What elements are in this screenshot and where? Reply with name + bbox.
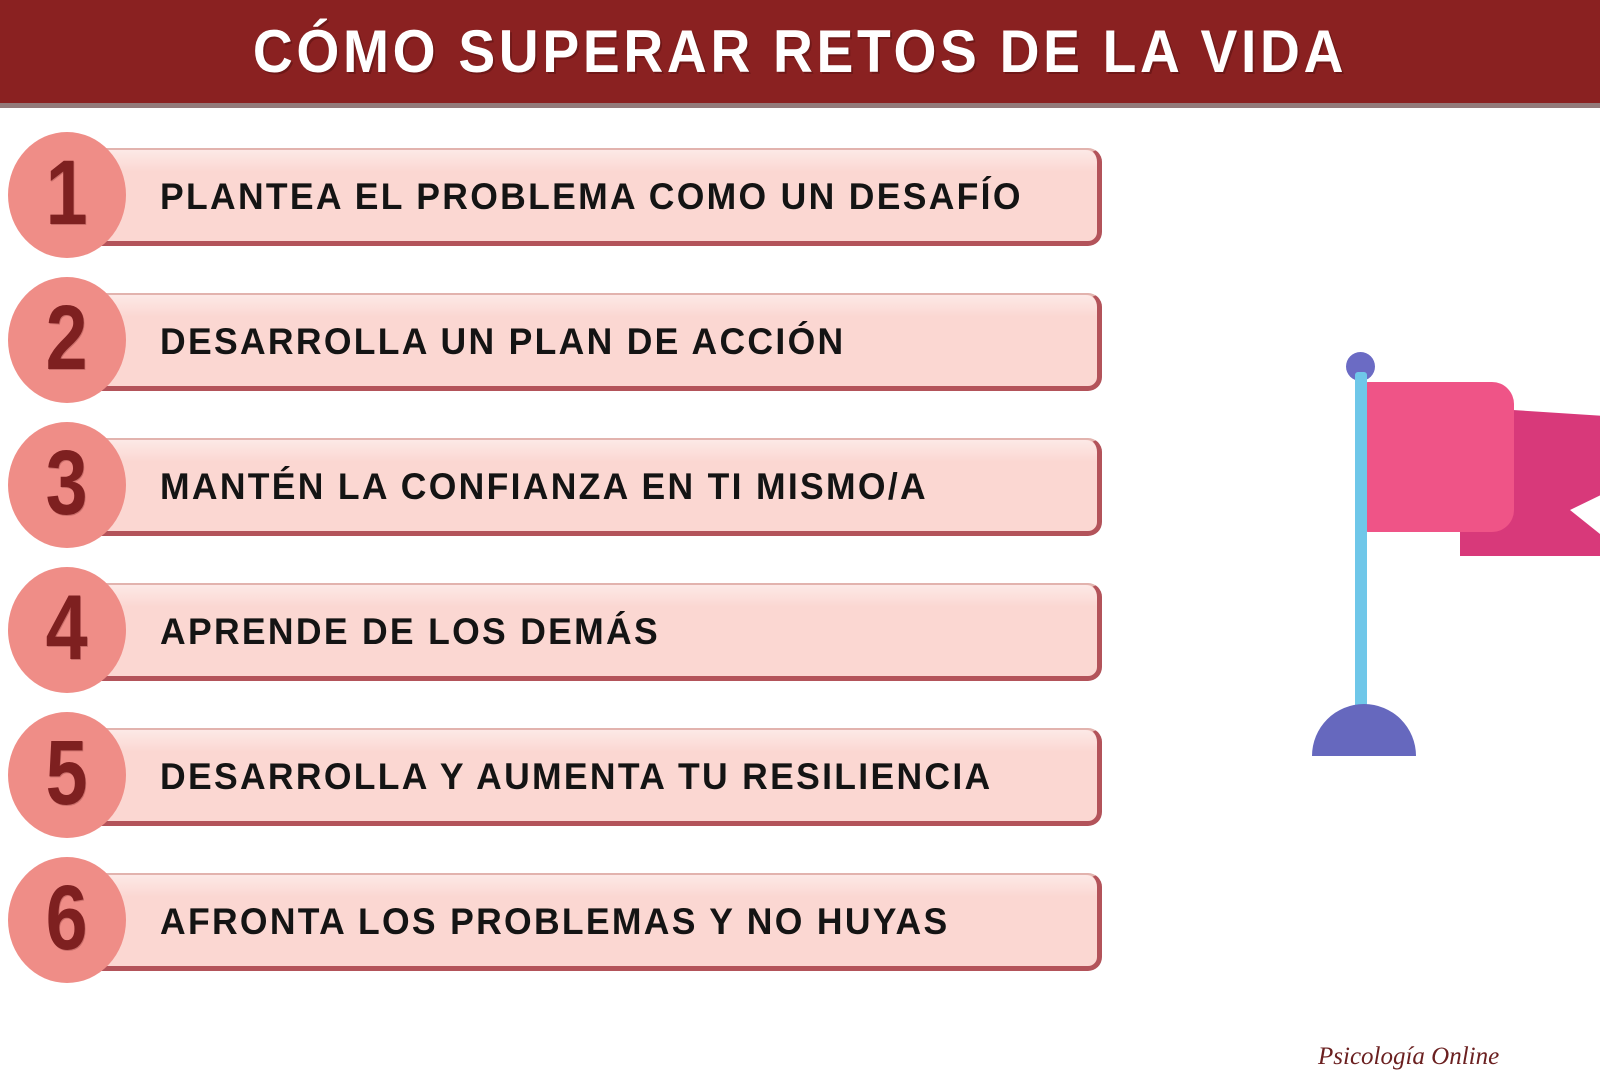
- list-item[interactable]: 3 MANTÉN LA CONFIANZA EN TI MISMO/A: [0, 408, 1130, 553]
- step-text: DESARROLLA Y AUMENTA TU RESILIENCIA: [160, 728, 993, 826]
- list-item[interactable]: 6 AFRONTA LOS PROBLEMAS Y NO HUYAS: [0, 843, 1130, 988]
- list-item[interactable]: 1 PLANTEA EL PROBLEMA COMO UN DESAFÍO: [0, 118, 1130, 263]
- step-text: PLANTEA EL PROBLEMA COMO UN DESAFÍO: [160, 148, 1023, 246]
- flag-pole-icon: [1355, 372, 1367, 724]
- list-item[interactable]: 2 DESARROLLA UN PLAN DE ACCIÓN: [0, 263, 1130, 408]
- step-number-label: 6: [46, 872, 88, 964]
- step-number-badge: 5: [8, 712, 126, 838]
- step-number-label: 5: [46, 727, 88, 819]
- flag-icon: [1302, 352, 1600, 764]
- step-number-badge: 4: [8, 567, 126, 693]
- step-number-label: 1: [46, 147, 88, 239]
- list-item[interactable]: 5 DESARROLLA Y AUMENTA TU RESILIENCIA: [0, 698, 1130, 843]
- flag-cloth-front-icon: [1364, 382, 1514, 532]
- header-banner: CÓMO SUPERAR RETOS DE LA VIDA: [0, 0, 1600, 103]
- step-text: APRENDE DE LOS DEMÁS: [160, 583, 660, 681]
- flag-base-icon: [1312, 704, 1416, 756]
- page-title: CÓMO SUPERAR RETOS DE LA VIDA: [64, 0, 1536, 103]
- step-number-label: 3: [46, 437, 88, 529]
- step-number-badge: 3: [8, 422, 126, 548]
- step-number-badge: 6: [8, 857, 126, 983]
- step-text: AFRONTA LOS PROBLEMAS Y NO HUYAS: [160, 873, 949, 971]
- header-banner-shadow: [0, 103, 1600, 108]
- step-number-label: 2: [46, 292, 88, 384]
- step-text: MANTÉN LA CONFIANZA EN TI MISMO/A: [160, 438, 928, 536]
- step-text: DESARROLLA UN PLAN DE ACCIÓN: [160, 293, 845, 391]
- step-number-badge: 2: [8, 277, 126, 403]
- steps-list: 1 PLANTEA EL PROBLEMA COMO UN DESAFÍO 2 …: [0, 118, 1130, 988]
- step-number-label: 4: [46, 582, 88, 674]
- list-item[interactable]: 4 APRENDE DE LOS DEMÁS: [0, 553, 1130, 698]
- step-number-badge: 1: [8, 132, 126, 258]
